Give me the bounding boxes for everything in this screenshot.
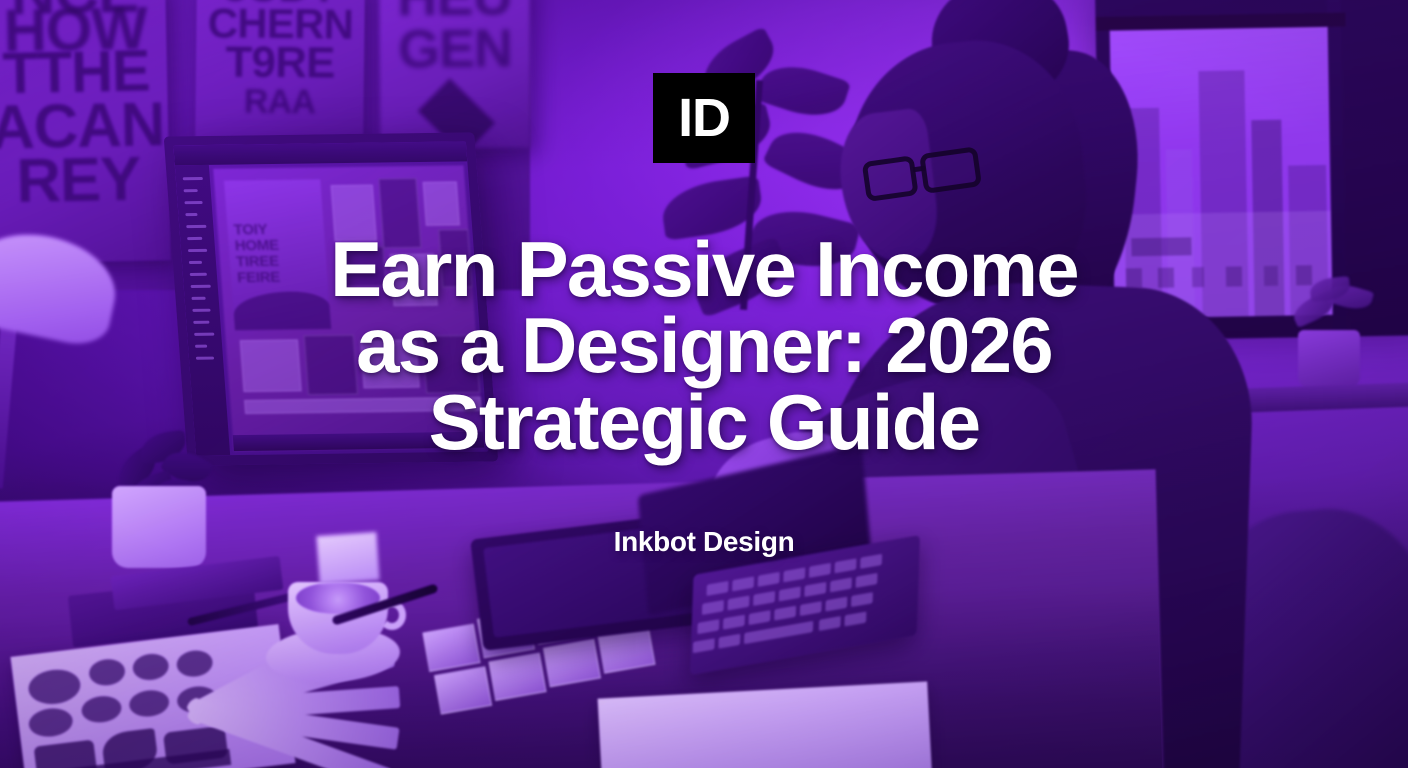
feature-image-canvas: NCE HOW TTHE ACAN REY JUDY CHERN T9RE RA… [0,0,1408,768]
brand-byline: Inkbot Design [614,526,795,558]
inkbot-id-logo-icon[interactable]: ID [653,73,755,163]
title-line-1: Earn Passive Income [154,231,1254,307]
logo-mark-text: ID [678,91,730,145]
page-title: Earn Passive Income as a Designer: 2026 … [154,231,1254,460]
title-line-2: as a Designer: 2026 [154,307,1254,383]
title-line-3: Strategic Guide [154,384,1254,460]
overlay-content: ID Earn Passive Income as a Designer: 20… [0,0,1408,768]
